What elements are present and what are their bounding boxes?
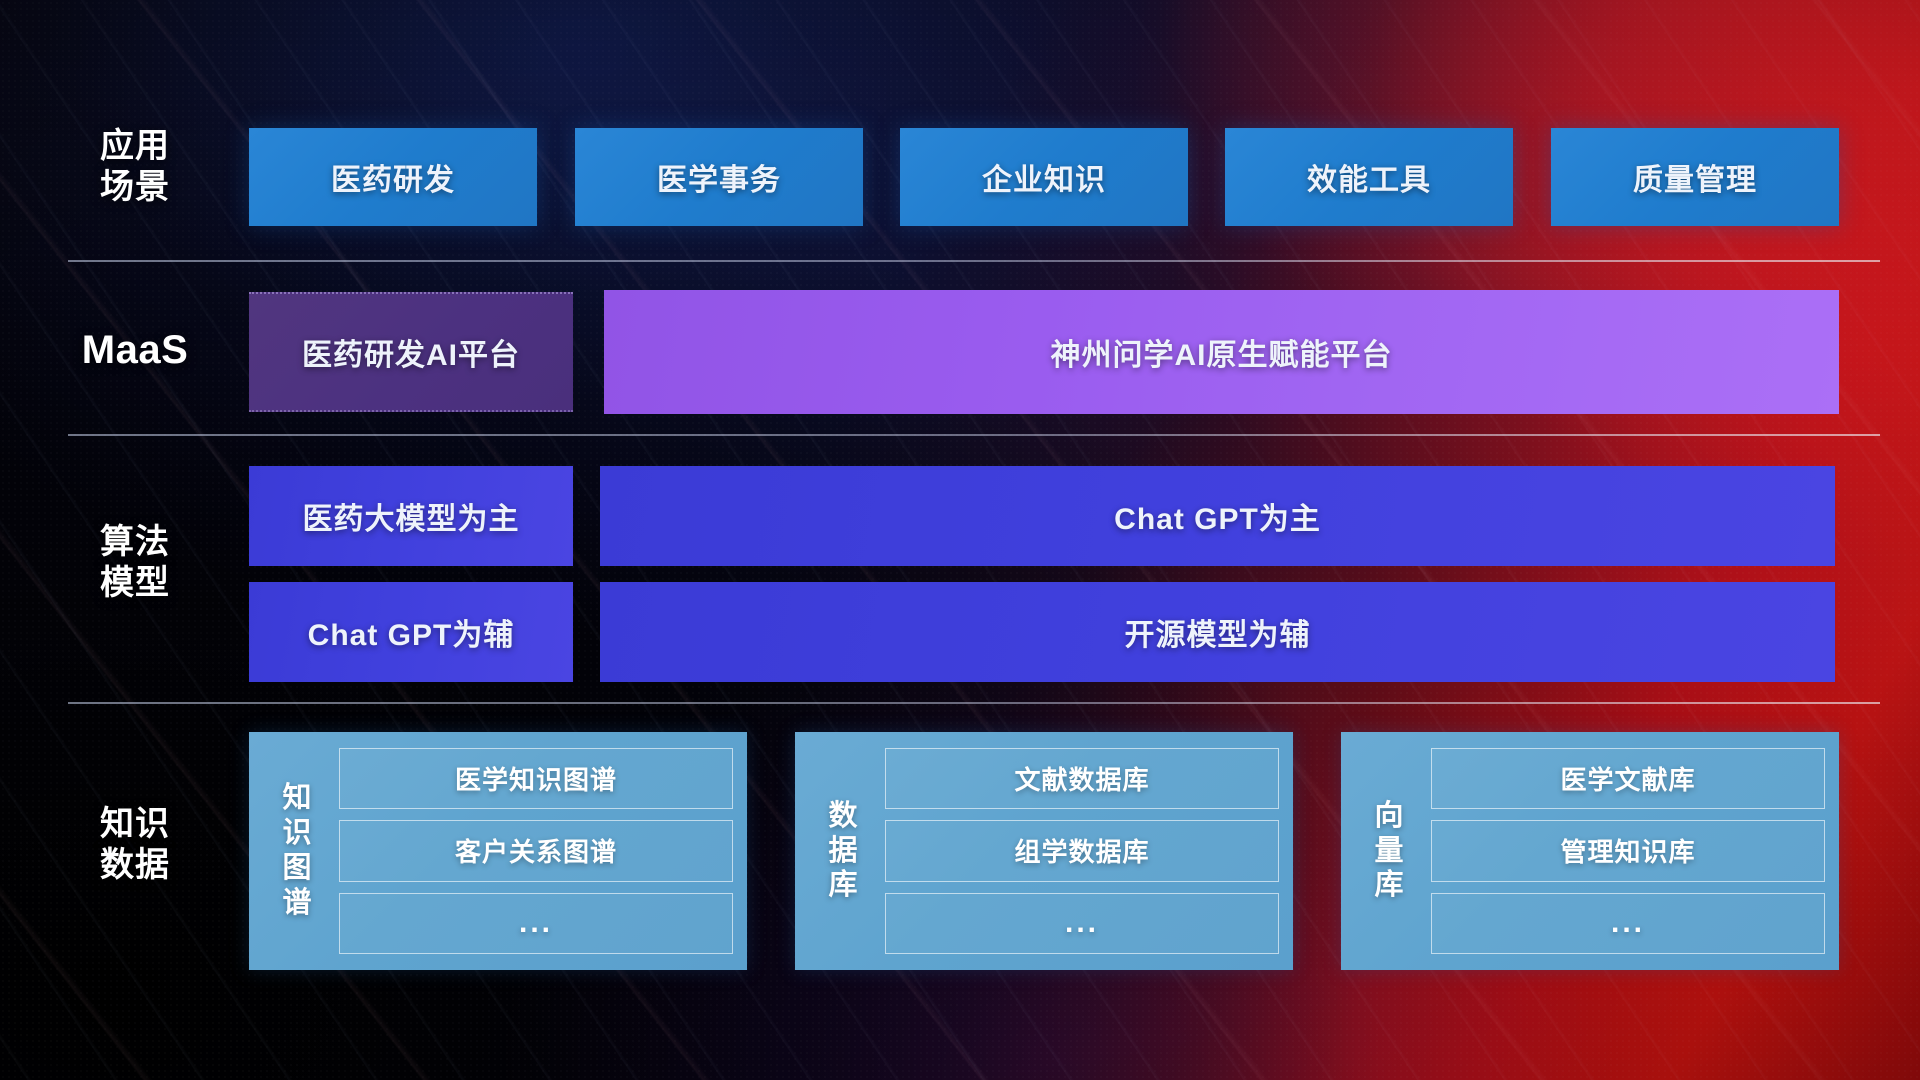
knowledge-panel-label-vector-database: 向 量 库 bbox=[1353, 748, 1425, 954]
panel-label-char: 库 bbox=[828, 868, 857, 903]
divider-after-algorithm-model bbox=[68, 702, 1880, 704]
knowledge-item-label: 管理知识库 bbox=[1560, 832, 1695, 869]
knowledge-item-list: 文献数据库 组学数据库 ... bbox=[879, 748, 1279, 954]
knowledge-item-label: 客户关系图谱 bbox=[455, 832, 617, 869]
knowledge-item-management-knowledge-base[interactable]: 管理知识库 bbox=[1431, 820, 1825, 881]
app-card-enterprise-knowledge[interactable]: 企业知识 bbox=[900, 128, 1188, 226]
row-label-line: 应用 bbox=[100, 126, 170, 167]
app-card-efficiency-tools[interactable]: 效能工具 bbox=[1225, 128, 1513, 226]
architecture-diagram: 应用 场景 医药研发 医学事务 企业知识 效能工具 质量管理 MaaS 医药研发… bbox=[0, 0, 1920, 1080]
row-label-line: MaaS bbox=[82, 326, 189, 375]
row-label-line: 数据 bbox=[100, 845, 170, 886]
knowledge-item-omics-database[interactable]: 组学数据库 bbox=[885, 820, 1279, 881]
panel-label-char: 识 bbox=[282, 816, 311, 851]
panel-label-char: 数 bbox=[828, 799, 857, 834]
row-label-line: 模型 bbox=[100, 563, 170, 604]
algo-card-opensource-model-secondary[interactable]: 开源模型为辅 bbox=[600, 582, 1835, 682]
app-card-quality-management[interactable]: 质量管理 bbox=[1551, 128, 1839, 226]
row-label-maas: MaaS bbox=[70, 320, 200, 380]
knowledge-panel-label-database: 数 据 库 bbox=[807, 748, 879, 954]
algo-card-label: Chat GPT为主 bbox=[1114, 494, 1321, 538]
maas-card-label: 医药研发AI平台 bbox=[302, 330, 520, 374]
app-card-label: 企业知识 bbox=[982, 155, 1106, 199]
knowledge-item-more[interactable]: ... bbox=[885, 893, 1279, 954]
knowledge-item-label: ... bbox=[1065, 906, 1099, 940]
app-card-label: 医药研发 bbox=[331, 155, 455, 199]
knowledge-item-list: 医学知识图谱 客户关系图谱 ... bbox=[333, 748, 733, 954]
panel-label-char: 据 bbox=[828, 834, 857, 869]
algo-card-chatgpt-primary[interactable]: Chat GPT为主 bbox=[600, 466, 1835, 566]
knowledge-item-label: 组学数据库 bbox=[1014, 832, 1149, 869]
row-label-algorithm-model: 算法 模型 bbox=[70, 508, 200, 618]
knowledge-item-medical-knowledge-graph[interactable]: 医学知识图谱 bbox=[339, 748, 733, 809]
knowledge-panel-knowledge-graph[interactable]: 知 识 图 谱 医学知识图谱 客户关系图谱 ... bbox=[249, 732, 747, 970]
panel-label-char: 库 bbox=[1374, 868, 1403, 903]
algo-card-medicine-large-model-primary[interactable]: 医药大模型为主 bbox=[249, 466, 573, 566]
knowledge-item-literature-database[interactable]: 文献数据库 bbox=[885, 748, 1279, 809]
knowledge-item-label: 文献数据库 bbox=[1014, 760, 1149, 797]
panel-label-char: 谱 bbox=[282, 886, 311, 921]
row-label-application-scenarios: 应用 场景 bbox=[70, 112, 200, 222]
maas-card-label: 神州问学AI原生赋能平台 bbox=[1051, 330, 1393, 374]
app-card-medicine-rd[interactable]: 医药研发 bbox=[249, 128, 537, 226]
knowledge-item-more[interactable]: ... bbox=[1431, 893, 1825, 954]
knowledge-panel-vector-database[interactable]: 向 量 库 医学文献库 管理知识库 ... bbox=[1341, 732, 1839, 970]
knowledge-item-label: ... bbox=[1611, 906, 1645, 940]
app-card-label: 质量管理 bbox=[1633, 155, 1757, 199]
knowledge-panel-database[interactable]: 数 据 库 文献数据库 组学数据库 ... bbox=[795, 732, 1293, 970]
knowledge-item-customer-relation-graph[interactable]: 客户关系图谱 bbox=[339, 820, 733, 881]
app-card-label: 效能工具 bbox=[1307, 155, 1431, 199]
divider-after-maas bbox=[68, 434, 1880, 436]
app-card-medical-affairs[interactable]: 医学事务 bbox=[575, 128, 863, 226]
algo-card-chatgpt-secondary[interactable]: Chat GPT为辅 bbox=[249, 582, 573, 682]
row-label-line: 算法 bbox=[100, 522, 170, 563]
row-label-knowledge-data: 知识 数据 bbox=[70, 790, 200, 900]
panel-label-char: 向 bbox=[1374, 799, 1403, 834]
divider-after-application-scenarios bbox=[68, 260, 1880, 262]
row-label-line: 知识 bbox=[100, 804, 170, 845]
knowledge-item-label: ... bbox=[519, 906, 553, 940]
algo-card-label: Chat GPT为辅 bbox=[308, 610, 515, 654]
maas-card-medicine-ai-platform[interactable]: 医药研发AI平台 bbox=[249, 292, 573, 412]
knowledge-item-medical-literature-library[interactable]: 医学文献库 bbox=[1431, 748, 1825, 809]
panel-label-char: 图 bbox=[282, 851, 311, 886]
maas-card-shenzhou-wenxue-platform[interactable]: 神州问学AI原生赋能平台 bbox=[604, 290, 1839, 414]
algo-card-label: 医药大模型为主 bbox=[303, 494, 520, 538]
panel-label-char: 量 bbox=[1374, 834, 1403, 869]
panel-label-char: 知 bbox=[282, 781, 311, 816]
knowledge-item-label: 医学文献库 bbox=[1560, 760, 1695, 797]
knowledge-panel-label-knowledge-graph: 知 识 图 谱 bbox=[261, 748, 333, 954]
app-card-label: 医学事务 bbox=[657, 155, 781, 199]
row-label-line: 场景 bbox=[100, 167, 170, 208]
knowledge-item-label: 医学知识图谱 bbox=[455, 760, 617, 797]
algo-card-label: 开源模型为辅 bbox=[1125, 610, 1311, 654]
knowledge-item-more[interactable]: ... bbox=[339, 893, 733, 954]
knowledge-item-list: 医学文献库 管理知识库 ... bbox=[1425, 748, 1825, 954]
